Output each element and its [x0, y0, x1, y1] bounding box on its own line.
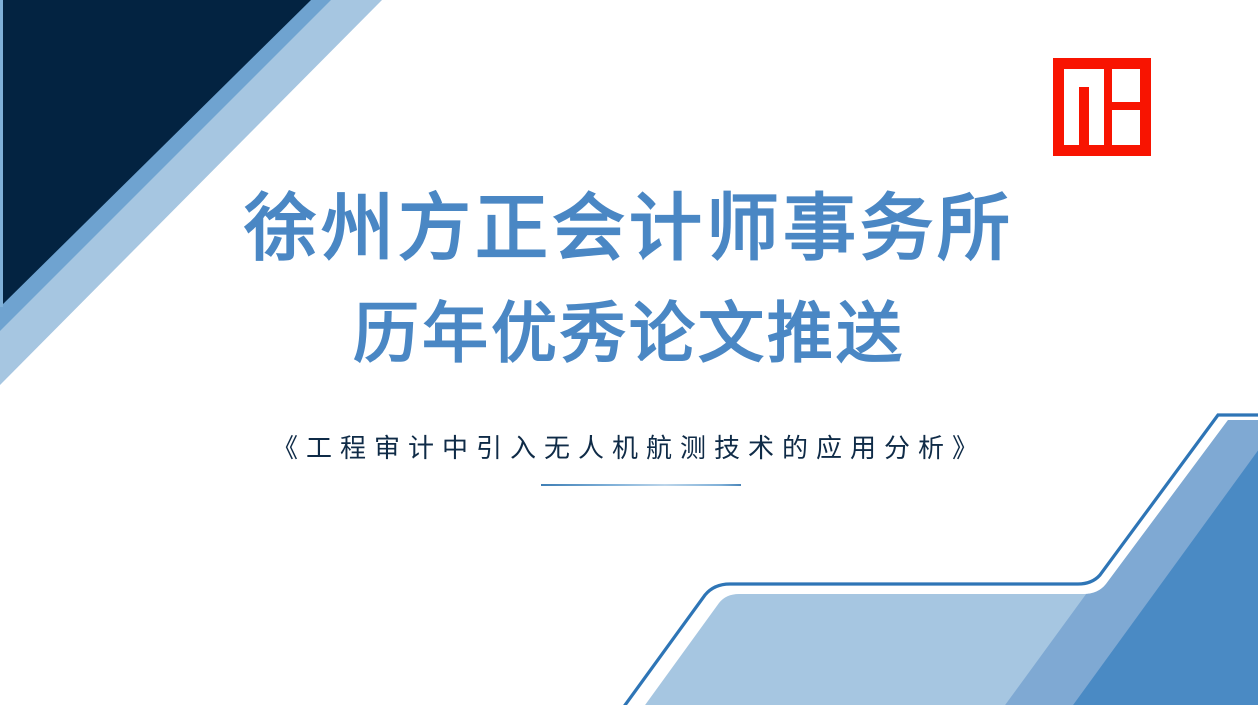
slide-canvas: 徐州方正会计师事务所 历年优秀论文推送 《工程审计中引入无人机航测技术的应用分析… — [0, 0, 1258, 705]
paper-subtitle: 《工程审计中引入无人机航测技术的应用分析》 — [0, 428, 1258, 465]
page-title-line-2: 历年优秀论文推送 — [0, 300, 1258, 366]
page-title-line-1: 徐州方正会计师事务所 — [0, 192, 1258, 265]
fangzheng-logo-icon — [1053, 58, 1151, 156]
title-divider-rule — [541, 484, 741, 486]
